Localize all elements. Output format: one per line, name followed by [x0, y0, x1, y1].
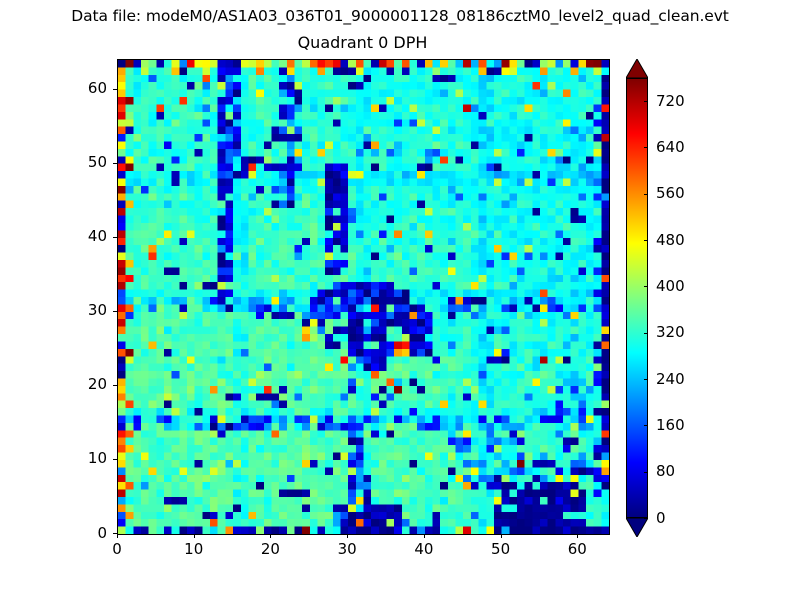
x-tick-mark: [501, 534, 502, 538]
y-tick-label: 40: [47, 228, 107, 245]
x-tick-label: 60: [547, 541, 607, 558]
colorbar-tick-mark: [644, 379, 648, 380]
x-tick-label: 30: [317, 541, 377, 558]
y-tick-mark: [113, 89, 117, 90]
figure-canvas: Data file: modeM0/AS1A03_036T01_90000011…: [0, 0, 800, 600]
colorbar-tick-label: 560: [656, 185, 685, 202]
colorbar-tick-mark: [644, 101, 648, 102]
colorbar-gradient-bar[interactable]: [626, 78, 648, 518]
colorbar-tick-mark: [644, 518, 648, 519]
colorbar-gradient: [627, 79, 647, 517]
x-tick-mark: [347, 534, 348, 538]
y-tick-label: 20: [47, 376, 107, 393]
y-tick-mark: [113, 311, 117, 312]
colorbar-tick-label: 240: [656, 371, 685, 388]
y-tick-mark: [113, 385, 117, 386]
x-tick-label: 40: [394, 541, 454, 558]
x-tick-label: 50: [471, 541, 531, 558]
x-tick-label: 20: [240, 541, 300, 558]
colorbar-tick-label: 80: [656, 463, 675, 480]
colorbar-tick-mark: [644, 194, 648, 195]
y-tick-label: 60: [47, 80, 107, 97]
x-tick-label: 10: [164, 541, 224, 558]
colorbar-tick-label: 720: [656, 93, 685, 110]
detector-pixel-heatmap[interactable]: [118, 60, 609, 534]
x-tick-mark: [117, 534, 118, 538]
x-tick-mark: [577, 534, 578, 538]
x-tick-mark: [194, 534, 195, 538]
y-tick-label: 30: [47, 302, 107, 319]
colorbar-tick-label: 400: [656, 278, 685, 295]
y-tick-mark: [113, 163, 117, 164]
colorbar-tick-label: 480: [656, 232, 685, 249]
plot-title: Quadrant 0 DPH: [117, 32, 608, 53]
x-tick-label: 0: [87, 541, 147, 558]
y-tick-mark: [113, 533, 117, 534]
colorbar-tick-mark: [644, 286, 648, 287]
y-tick-mark: [113, 459, 117, 460]
y-tick-label: 50: [47, 154, 107, 171]
colorbar-tick-mark: [644, 333, 648, 334]
colorbar-tick-label: 320: [656, 324, 685, 341]
data-file-suptitle: Data file: modeM0/AS1A03_036T01_90000011…: [0, 6, 800, 26]
y-tick-label: 0: [47, 525, 107, 542]
colorbar-extend-high-arrow: [626, 59, 648, 78]
y-tick-mark: [113, 237, 117, 238]
colorbar-tick-mark: [644, 472, 648, 473]
x-tick-mark: [424, 534, 425, 538]
colorbar-tick-mark: [644, 240, 648, 241]
colorbar-tick-label: 0: [656, 510, 666, 527]
x-tick-mark: [270, 534, 271, 538]
colorbar-tick-label: 640: [656, 139, 685, 156]
colorbar-tick-label: 160: [656, 417, 685, 434]
colorbar-extend-low-arrow: [626, 518, 648, 537]
y-tick-label: 10: [47, 450, 107, 467]
colorbar-tick-mark: [644, 425, 648, 426]
heatmap-axes[interactable]: [117, 59, 610, 535]
colorbar-tick-mark: [644, 147, 648, 148]
colorbar[interactable]: 080160240320400480560640720: [626, 59, 650, 538]
